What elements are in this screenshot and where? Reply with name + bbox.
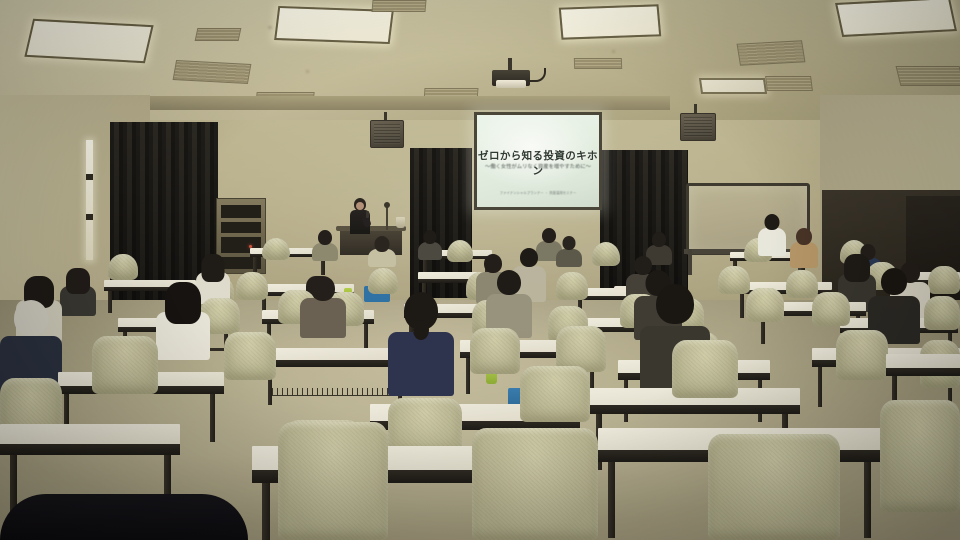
chair — [92, 336, 158, 394]
ceiling-light-panel — [835, 0, 957, 37]
wall-speaker — [680, 113, 716, 141]
chair — [672, 340, 738, 398]
ceiling-air-vent — [173, 60, 252, 84]
chair — [447, 240, 473, 262]
ceiling-air-vent — [371, 0, 426, 12]
chair — [472, 428, 598, 540]
chair — [236, 272, 268, 300]
drinking-cup — [396, 217, 405, 228]
audience-member — [556, 236, 582, 266]
ceiling-projector — [492, 70, 530, 86]
chair — [368, 268, 398, 294]
handheld-microphone — [366, 211, 369, 218]
whiteboard-post — [688, 249, 692, 275]
projector-lens — [496, 80, 526, 88]
presenter — [346, 198, 374, 234]
ceiling-air-vent — [896, 66, 960, 86]
chair — [108, 254, 138, 280]
chair — [836, 330, 888, 380]
ceiling-air-vent — [195, 28, 242, 41]
audience-member — [368, 236, 396, 266]
chair — [556, 272, 588, 300]
seminar-room-photo: ゼロから知る投資のキホン 〜働く女性がムリなく資産を増やすために〜 ファイナンシ… — [0, 0, 960, 540]
chair — [224, 332, 276, 380]
audience-member — [758, 214, 786, 254]
slide-subtitle: 〜働く女性がムリなく資産を増やすために〜 — [477, 162, 599, 170]
chair — [470, 328, 520, 374]
chair — [262, 238, 290, 260]
chair — [708, 434, 840, 540]
ceiling-blemish — [612, 50, 615, 53]
chair — [520, 366, 590, 422]
microphone-stand — [386, 206, 388, 230]
audience-member — [790, 228, 818, 266]
chair — [278, 422, 388, 540]
ceiling-air-vent — [574, 58, 622, 69]
foreground-person — [0, 494, 248, 540]
wall-speaker — [370, 120, 404, 148]
chair — [812, 292, 850, 326]
chair — [592, 242, 620, 266]
chair — [924, 296, 960, 330]
ceiling-light-panel — [24, 19, 153, 63]
desk — [886, 354, 960, 382]
ceiling-blemish — [268, 26, 272, 29]
ceiling-blemish — [306, 70, 309, 73]
chair — [928, 266, 960, 294]
audience-member — [312, 230, 338, 260]
ceiling-light-panel — [559, 4, 661, 39]
audience-member — [60, 268, 96, 314]
audience-member — [156, 282, 210, 356]
wall-light-strip — [86, 140, 93, 260]
desk — [0, 424, 180, 464]
audience-member — [486, 270, 532, 336]
audience-member — [418, 230, 442, 260]
chair — [880, 400, 960, 512]
ceiling-air-vent — [737, 40, 806, 65]
audience-member — [388, 292, 454, 392]
ceiling-air-vent — [765, 76, 813, 91]
ceiling-soffit — [150, 96, 670, 110]
projection-screen: ゼロから知る投資のキホン 〜働く女性がムリなく資産を増やすために〜 ファイナンシ… — [474, 112, 602, 210]
slide-footer: ファイナンシャルプランナー ・ 資産運用セミナー — [477, 190, 599, 195]
audience-member — [300, 276, 346, 336]
chair — [746, 288, 784, 322]
ceiling-light-panel — [699, 78, 767, 94]
